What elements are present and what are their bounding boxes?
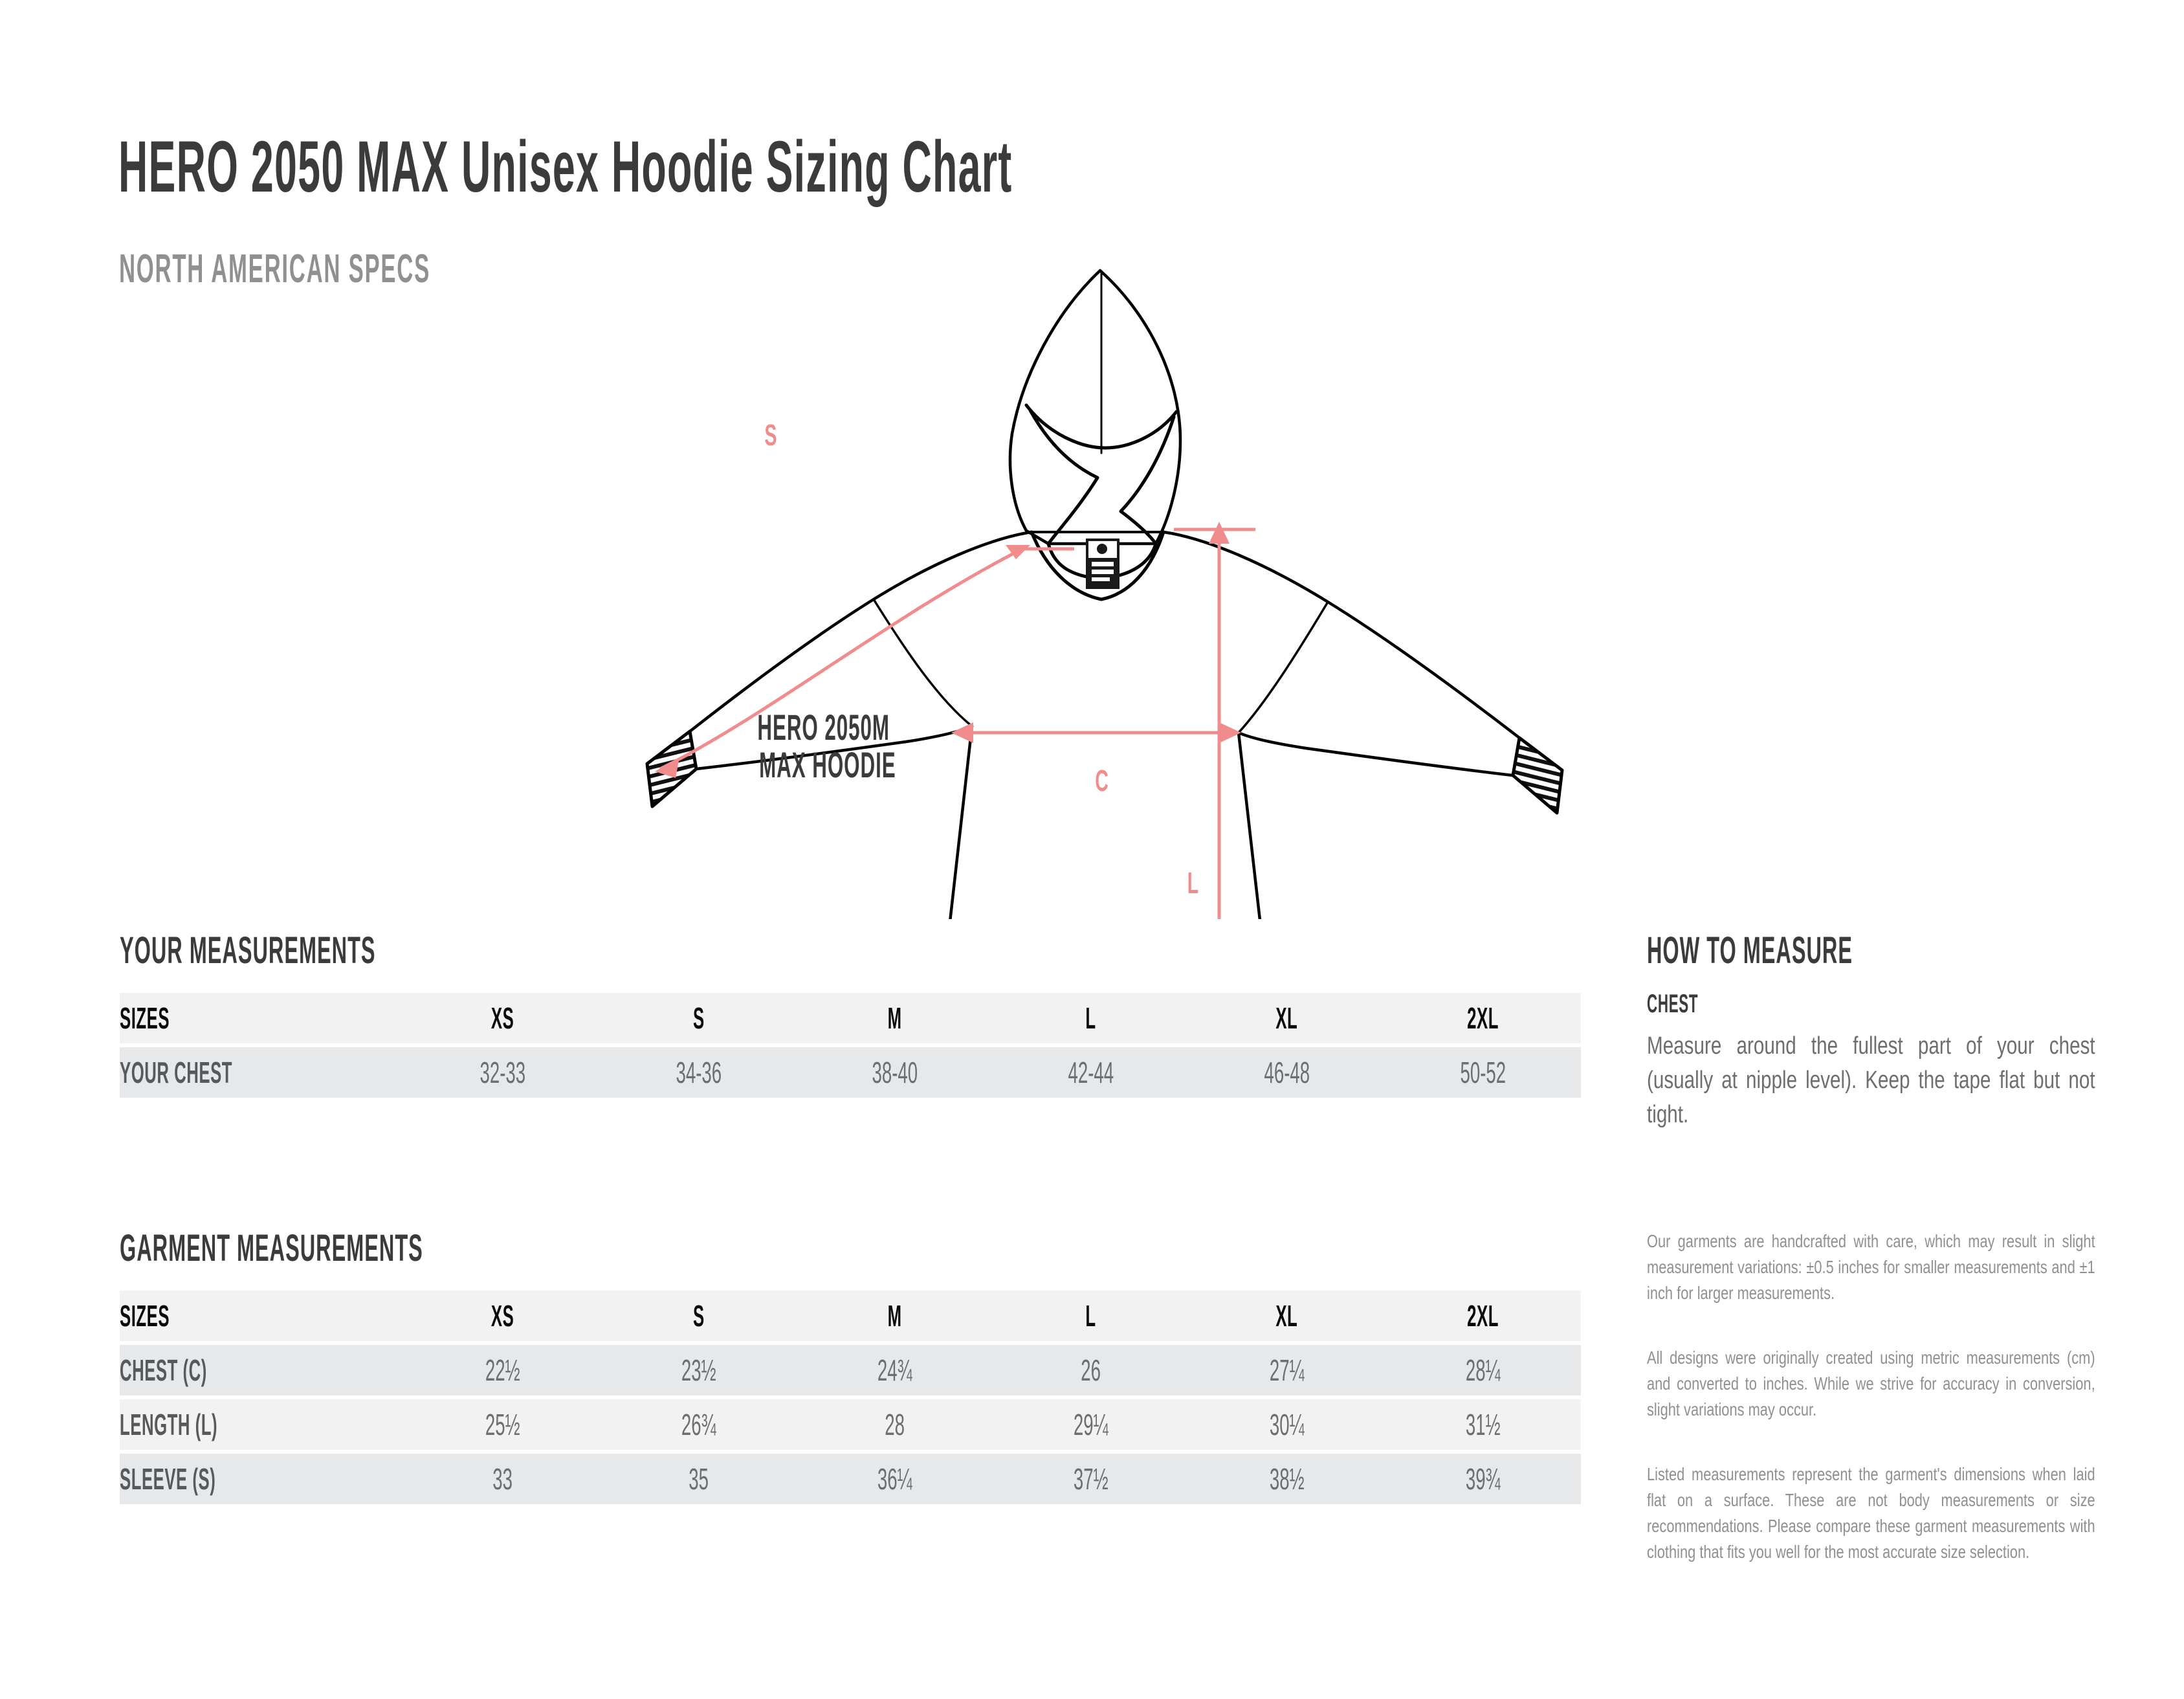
disclaimer-text-3: Listed measurements represent the garmen…: [1647, 1461, 2095, 1565]
cell-sleeve-xs: 33: [404, 1454, 601, 1504]
cell-length-xl: 30¼: [1189, 1399, 1385, 1450]
cell-chest-xs: 22½: [404, 1345, 601, 1395]
column-header-xl: XL: [1189, 1291, 1385, 1341]
cell-sleeve-m: 36¼: [797, 1454, 993, 1504]
cell-your-chest-m: 38-40: [797, 1047, 993, 1098]
page-title: HERO 2050 MAX Unisex Hoodie Sizing Chart: [118, 133, 1715, 201]
how-to-measure-description: Measure around the fullest part of your …: [1647, 1029, 2095, 1132]
how-to-measure-heading: HOW TO MEASURE: [1647, 931, 2014, 971]
column-header-s: S: [601, 993, 797, 1043]
cell-length-xs: 25½: [404, 1399, 601, 1450]
disclaimer-text-2: All designs were originally created usin…: [1647, 1345, 2095, 1423]
cell-sleeve-2xl: 39¾: [1385, 1454, 1581, 1504]
column-header-m: M: [797, 993, 993, 1043]
cell-chest-m: 24¾: [797, 1345, 993, 1395]
product-caption-line2: MAX HOODIE: [759, 746, 896, 784]
column-header-2xl: 2XL: [1385, 1291, 1581, 1341]
length-label: L: [1187, 867, 1198, 900]
column-header-s: S: [601, 1291, 797, 1341]
garment-measurements-table: SIZES XS S M L XL 2XL: [120, 1287, 1581, 1508]
row-label-sleeve: SLEEVE (S): [120, 1454, 404, 1504]
disclaimer-text-1: Our garments are handcrafted with care, …: [1647, 1228, 2095, 1306]
product-caption-line1: HERO 2050M: [757, 709, 890, 746]
cell-length-2xl: 31½: [1385, 1399, 1581, 1450]
cell-sleeve-xl: 38½: [1189, 1454, 1385, 1504]
garment-measurements-heading: GARMENT MEASUREMENTS: [120, 1228, 661, 1269]
neck-label: [1086, 539, 1120, 589]
table-row: YOUR CHEST 32-33 34-36 38-40 42-44 46-48: [120, 1047, 1581, 1098]
cell-sleeve-l: 37½: [993, 1454, 1189, 1504]
disclaimer-paragraph: Our garments are handcrafted with care, …: [1647, 1228, 2095, 1306]
row-label-length: LENGTH (L): [120, 1399, 404, 1450]
table-header-row: SIZES XS S M L XL 2XL: [120, 1291, 1581, 1341]
cell-your-chest-xl: 46-48: [1189, 1047, 1385, 1098]
cell-length-l: 29¼: [993, 1399, 1189, 1450]
disclaimer-paragraph: Listed measurements represent the garmen…: [1647, 1461, 2095, 1565]
product-caption: HERO 2050M MAX HOODIE: [705, 709, 912, 784]
sizing-chart-page: HERO 2050 MAX Unisex Hoodie Sizing Chart…: [0, 0, 2184, 1699]
hoodie-technical-drawing: S C L: [569, 239, 1657, 919]
cell-your-chest-l: 42-44: [993, 1047, 1189, 1098]
column-header-xl: XL: [1189, 993, 1385, 1043]
cell-chest-s: 23½: [601, 1345, 797, 1395]
column-header-2xl: 2XL: [1385, 993, 1581, 1043]
how-to-measure-description-text: Measure around the fullest part of your …: [1647, 1029, 2095, 1132]
your-measurements-table: SIZES XS S M L XL 2XL: [120, 989, 1581, 1102]
table-row: LENGTH (L) 25½ 26¾ 28 29¼ 30¼ 31: [120, 1399, 1581, 1450]
page-title-text: HERO 2050 MAX Unisex Hoodie Sizing Chart: [118, 133, 1013, 201]
right-cuff: [1513, 738, 1562, 813]
page-subtitle-text: NORTH AMERICAN SPECS: [119, 249, 430, 289]
table-header-row: SIZES XS S M L XL 2XL: [120, 993, 1581, 1043]
cell-your-chest-s: 34-36: [601, 1047, 797, 1098]
cell-chest-xl: 27¼: [1189, 1345, 1385, 1395]
cell-sleeve-s: 35: [601, 1454, 797, 1504]
cell-chest-2xl: 28¼: [1385, 1345, 1581, 1395]
column-header-l: L: [993, 1291, 1189, 1341]
your-measurements-heading: YOUR MEASUREMENTS: [120, 931, 577, 971]
how-to-measure-heading-text: HOW TO MEASURE: [1647, 931, 1853, 971]
your-measurements-heading-text: YOUR MEASUREMENTS: [120, 931, 376, 971]
how-to-measure-subheading: CHEST: [1647, 990, 1739, 1017]
cell-length-s: 26¾: [601, 1399, 797, 1450]
garment-measurements-heading-text: GARMENT MEASUREMENTS: [120, 1228, 423, 1269]
cell-length-m: 28: [797, 1399, 993, 1450]
table-row: CHEST (C) 22½ 23½ 24¾ 26 27¼ 28¼: [120, 1345, 1581, 1395]
cell-your-chest-xs: 32-33: [404, 1047, 601, 1098]
table-row: SLEEVE (S) 33 35 36¼ 37½ 38½ 39¾: [120, 1454, 1581, 1504]
row-label-chest: CHEST (C): [120, 1345, 404, 1395]
cell-chest-l: 26: [993, 1345, 1189, 1395]
row-label-your-chest: YOUR CHEST: [120, 1047, 404, 1098]
column-header-m: M: [797, 1291, 993, 1341]
measurement-annotations: S C L: [655, 419, 1255, 919]
column-header-sizes: SIZES: [120, 1291, 404, 1341]
column-header-sizes: SIZES: [120, 993, 404, 1043]
column-header-xs: XS: [404, 1291, 601, 1341]
how-to-measure-subheading-text: CHEST: [1647, 990, 1698, 1017]
column-header-xs: XS: [404, 993, 601, 1043]
cell-your-chest-2xl: 50-52: [1385, 1047, 1581, 1098]
disclaimer-paragraph: All designs were originally created usin…: [1647, 1345, 2095, 1423]
chest-label: C: [1095, 764, 1109, 798]
hood-shape: [1010, 271, 1180, 544]
column-header-l: L: [993, 993, 1189, 1043]
chest-measure-arrow: [951, 722, 1241, 743]
sleeve-label: S: [764, 419, 777, 452]
length-measure-arrow: [1174, 522, 1255, 919]
